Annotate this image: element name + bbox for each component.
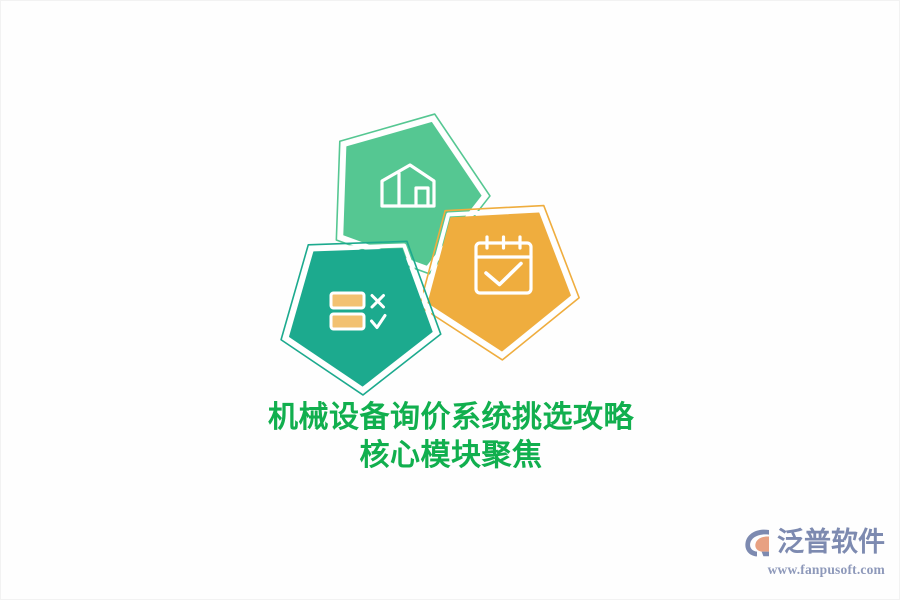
fanpu-logo-icon xyxy=(741,525,775,559)
checklist-bar-top xyxy=(331,293,364,308)
brand-name: 泛普软件 xyxy=(777,529,885,556)
brand-logo-row: 泛普软件 xyxy=(749,523,885,561)
screenshot-canvas: 机械设备询价系统挑选攻略 核心模块聚焦 泛普软件 www.fanpusoft.c… xyxy=(0,0,900,600)
page-title: 机械设备询价系统挑选攻略 核心模块聚焦 xyxy=(1,399,900,476)
page-title-line-1: 机械设备询价系统挑选攻略 xyxy=(1,399,900,437)
pentagon-cluster-graphic xyxy=(271,101,591,401)
checklist-bar-bottom xyxy=(331,314,364,329)
page-title-line-2: 核心模块聚焦 xyxy=(1,437,900,475)
brand-logo[interactable]: 泛普软件 www.fanpusoft.com xyxy=(749,523,885,585)
brand-url: www.fanpusoft.com xyxy=(749,562,885,578)
